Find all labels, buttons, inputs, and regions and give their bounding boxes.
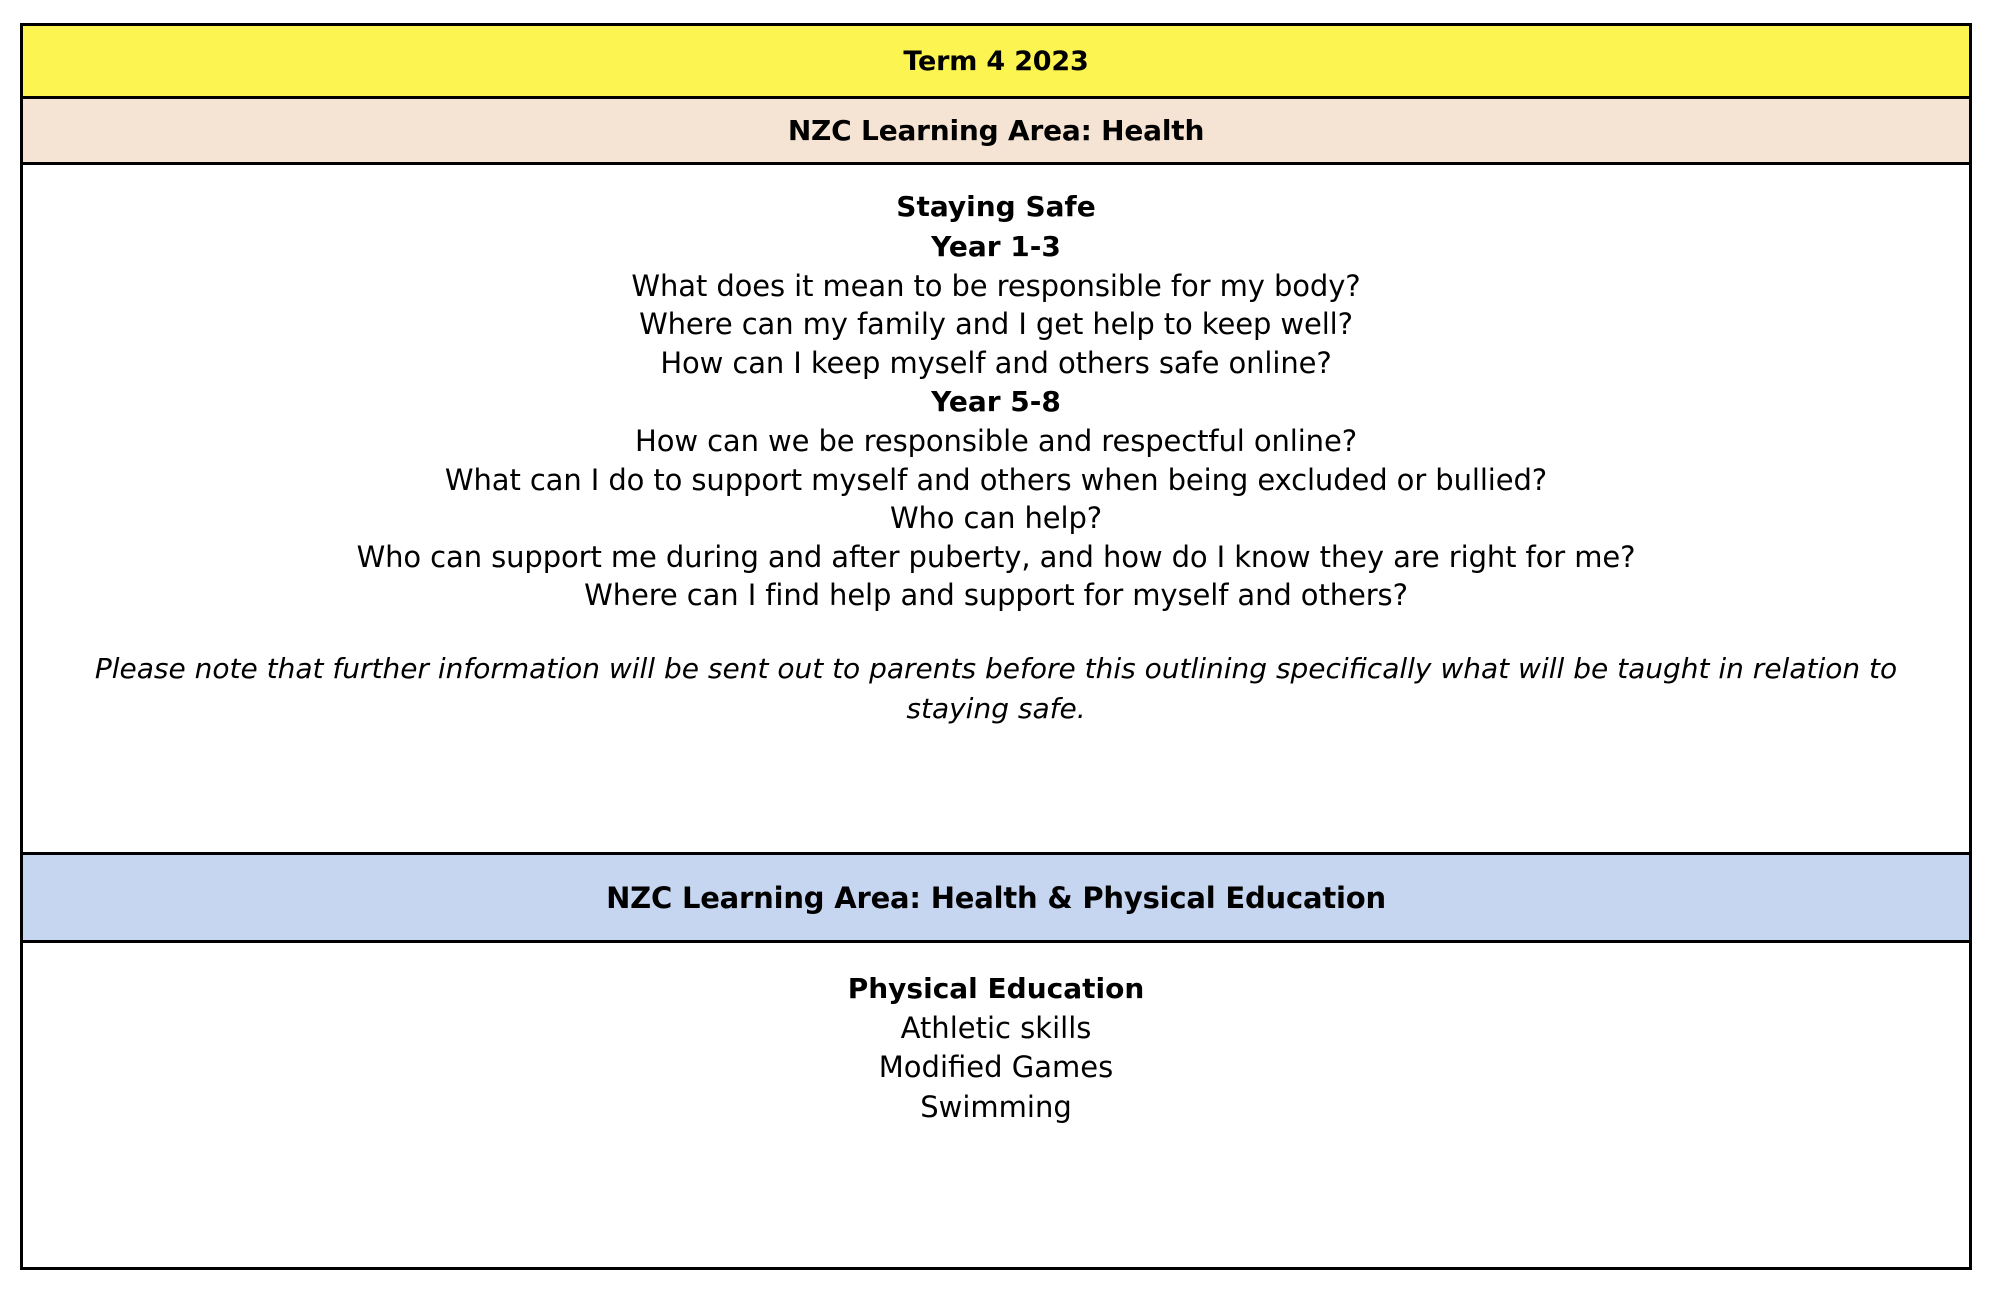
year-5-8-label: Year 5-8 — [931, 382, 1061, 422]
health-learning-area-banner-row: NZC Learning Area: Health — [23, 96, 1969, 162]
year-1-3-question: How can I keep myself and others safe on… — [660, 344, 1331, 383]
staying-safe-heading: Staying Safe — [896, 187, 1095, 227]
physical-education-content-cell: Physical Education Athletic skills Modif… — [23, 940, 1969, 1170]
physical-education-item: Athletic skills — [901, 1009, 1092, 1048]
year-5-8-question: What can I do to support myself and othe… — [445, 461, 1547, 500]
hpe-learning-area-label: NZC Learning Area: Health & Physical Edu… — [606, 881, 1386, 915]
parent-information-note: Please note that further information wil… — [56, 649, 1936, 729]
year-1-3-group: Year 1-3 What does it mean to be respons… — [47, 227, 1945, 382]
curriculum-overview-table: Term 4 2023 NZC Learning Area: Health St… — [20, 23, 1972, 1270]
year-5-8-question: How can we be responsible and respectful… — [635, 422, 1357, 461]
year-5-8-question: Where can I find help and support for my… — [584, 576, 1408, 615]
year-5-8-question: Who can support me during and after pube… — [357, 538, 1636, 577]
year-1-3-label: Year 1-3 — [931, 227, 1061, 267]
year-1-3-question: What does it mean to be responsible for … — [631, 267, 1360, 306]
health-content-cell: Staying Safe Year 1-3 What does it mean … — [23, 162, 1969, 852]
physical-education-item: Modified Games — [879, 1048, 1113, 1087]
year-1-3-question: Where can my family and I get help to ke… — [639, 305, 1353, 344]
physical-education-item: Swimming — [920, 1088, 1072, 1127]
year-5-8-question: Who can help? — [890, 499, 1102, 538]
hpe-learning-area-banner-row: NZC Learning Area: Health & Physical Edu… — [23, 852, 1969, 940]
term-banner-row: Term 4 2023 — [23, 26, 1969, 96]
physical-education-heading: Physical Education — [848, 969, 1145, 1009]
year-5-8-group: Year 5-8 How can we be responsible and r… — [47, 382, 1945, 615]
health-learning-area-label: NZC Learning Area: Health — [788, 114, 1204, 147]
term-banner-label: Term 4 2023 — [903, 46, 1088, 77]
